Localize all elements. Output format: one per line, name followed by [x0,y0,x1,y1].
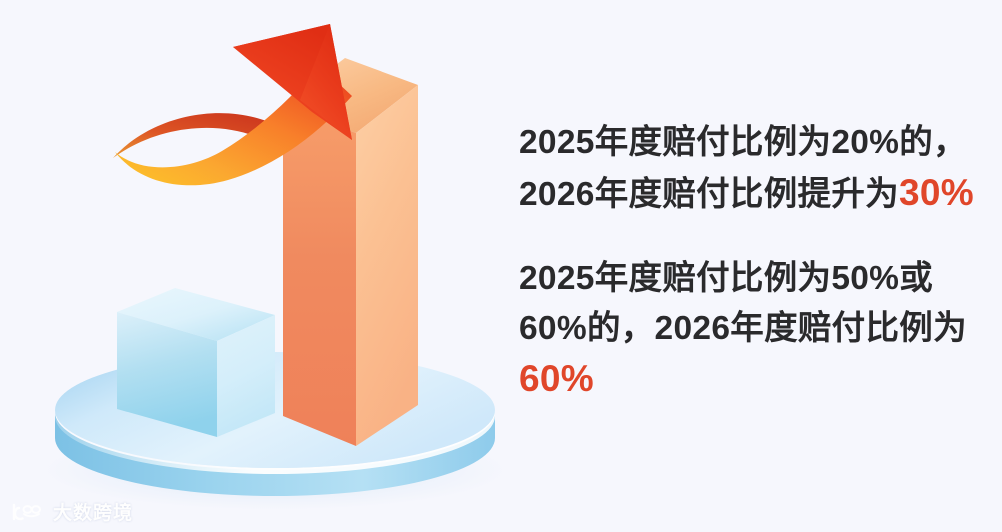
poster-canvas: 2025年度赔付比例为20%的，2026年度赔付比例提升为30% 2025年度赔… [0,0,1002,532]
blue-cube [117,288,275,437]
growth-illustration [0,0,510,532]
payout-rule-50-60-to-60-lead: 2025年度赔付比例为50%或60%的，2026年度赔付比例为 [519,260,967,347]
payout-rule-20-to-30-highlight: 30% [899,172,974,213]
payout-rule-20-to-30: 2025年度赔付比例为20%的，2026年度赔付比例提升为30% [519,118,989,220]
payout-rule-50-60-to-60: 2025年度赔付比例为50%或60%的，2026年度赔付比例为60% [519,254,989,406]
payout-rule-50-60-to-60-highlight: 60% [519,358,594,399]
copy-column: 2025年度赔付比例为20%的，2026年度赔付比例提升为30% 2025年度赔… [519,84,989,439]
